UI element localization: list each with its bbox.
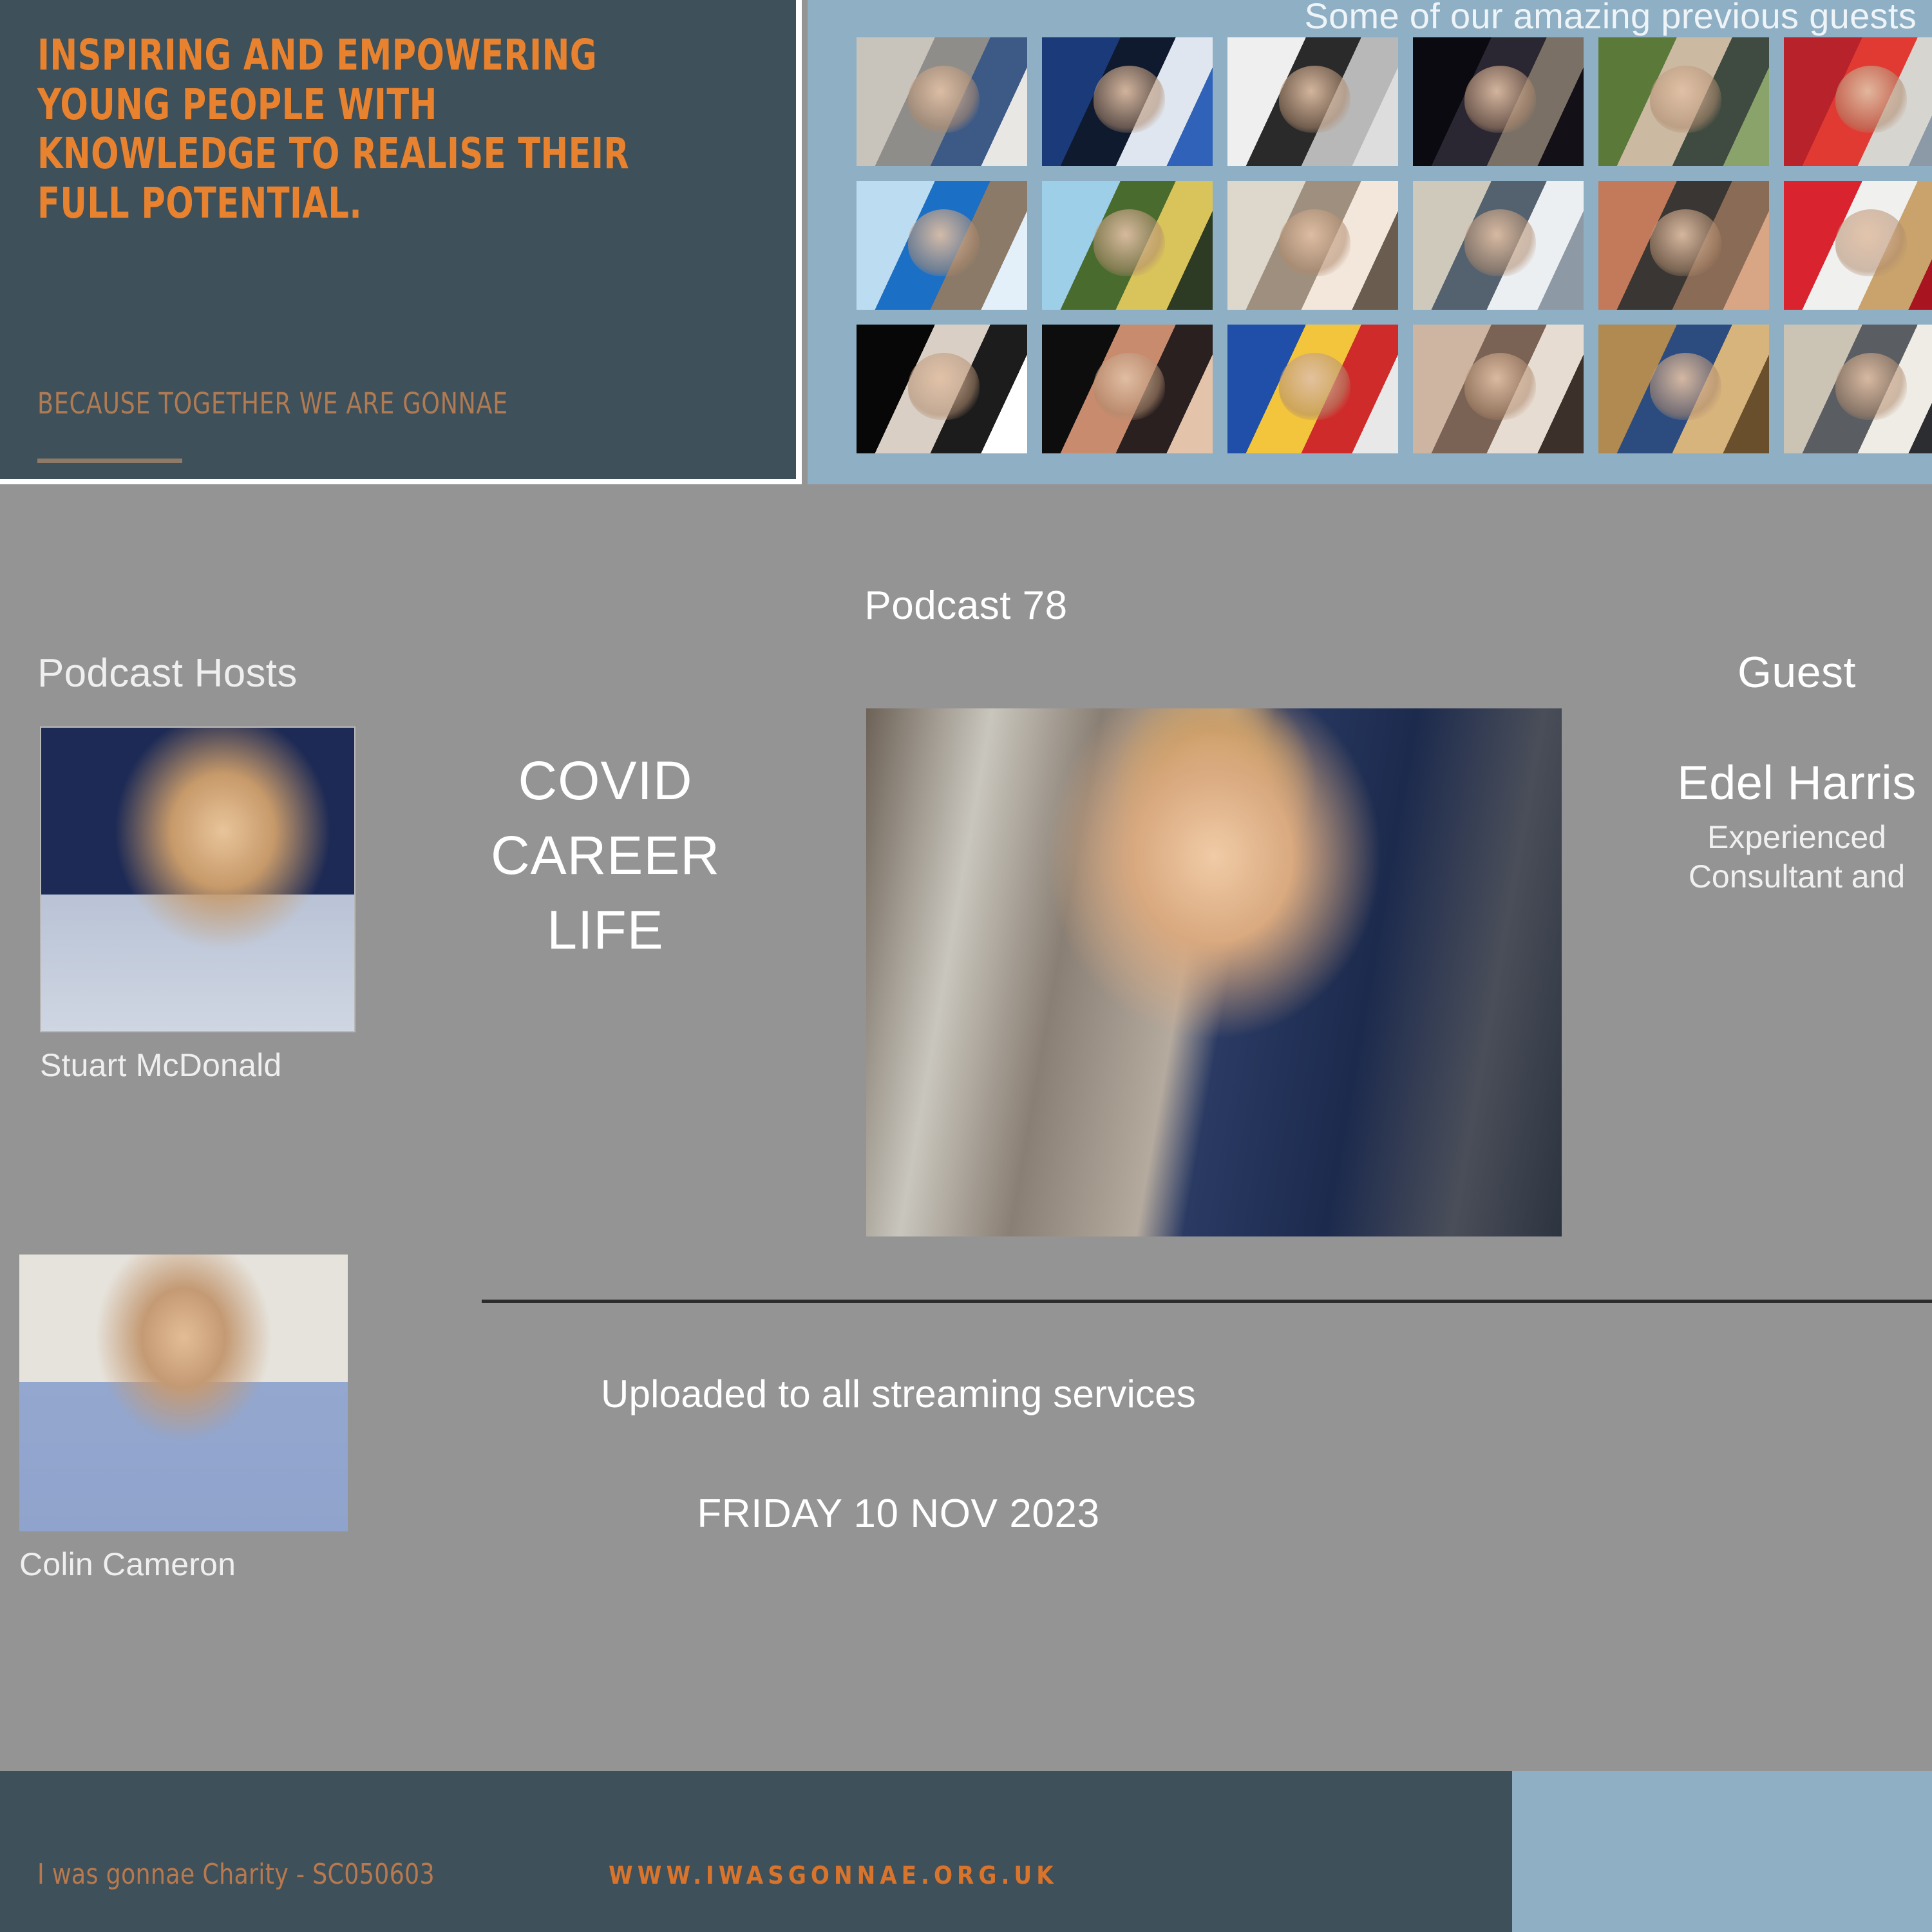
release-date: FRIDAY 10 NOV 2023: [0, 1491, 1797, 1537]
guest-thumbnail: [1042, 37, 1213, 166]
guest-thumbnail: [1227, 181, 1398, 310]
footer-left-block: [0, 1771, 1512, 1932]
show-title: COVID CAREER LIFE: [444, 744, 766, 968]
footer-right-block: [1512, 1771, 1932, 1932]
podcast-number: Podcast 78: [0, 583, 1932, 629]
previous-guests-title: Some of our amazing previous guests: [1304, 0, 1917, 37]
guest-thumbnail: [857, 37, 1027, 166]
show-title-line: CAREER: [444, 819, 766, 893]
top-band: Inspiring and empowering young people wi…: [0, 0, 1932, 489]
host-card: Stuart McDonald: [40, 726, 355, 1084]
guest-thumbnail: [1413, 181, 1584, 310]
guest-info-column: Guest Edel Harris Experienced Consultant…: [1533, 647, 1932, 896]
footer-bar: I was gonnae Charity - SC050603 www.iwas…: [0, 1771, 1932, 1932]
guest-role-line: Experienced: [1707, 819, 1886, 855]
mission-tagline: Because together we are gonnae: [37, 386, 687, 421]
section-divider: [482, 1300, 1932, 1303]
show-title-line: COVID: [444, 744, 766, 819]
guest-thumbnail: [1598, 37, 1769, 166]
guest-thumbnail: [1042, 325, 1213, 453]
mission-headline: Inspiring and empowering young people wi…: [37, 31, 674, 228]
guest-thumbnail: [1598, 325, 1769, 453]
guest-thumbnail: [1413, 37, 1584, 166]
guest-photo: [866, 708, 1562, 1236]
guest-role-line: Consultant and: [1689, 858, 1905, 895]
podcast-announcement-slide: Inspiring and empowering young people wi…: [0, 0, 1932, 1932]
host-name: Stuart McDonald: [40, 1046, 355, 1084]
footer-charity-number: I was gonnae Charity - SC050603: [37, 1858, 435, 1891]
upload-note: Uploaded to all streaming services: [0, 1372, 1797, 1416]
guest-thumbnail: [1413, 325, 1584, 453]
host-photo-stuart-mcdonald: [40, 726, 355, 1032]
guest-heading: Guest: [1533, 647, 1932, 697]
guest-thumbnail: [1784, 37, 1932, 166]
guest-role: Experienced Consultant and: [1533, 818, 1932, 896]
guest-thumbnail: [857, 325, 1027, 453]
podcast-hosts-heading: Podcast Hosts: [37, 650, 298, 696]
guest-thumbnail: [1784, 325, 1932, 453]
guest-thumbnail: [1042, 181, 1213, 310]
guest-thumbnail: [1598, 181, 1769, 310]
main-content: Podcast 78 Podcast Hosts Stuart McDonald…: [0, 489, 1932, 1771]
show-title-line: LIFE: [444, 893, 766, 968]
guest-thumbnail: [1784, 181, 1932, 310]
guest-thumbnail: [1227, 37, 1398, 166]
host-name: Colin Cameron: [19, 1546, 348, 1583]
guest-name: Edel Harris: [1533, 755, 1932, 810]
guest-thumbnail: [1227, 325, 1398, 453]
mission-panel: Inspiring and empowering young people wi…: [0, 0, 802, 484]
previous-guests-mosaic: Some of our amazing previous guests: [808, 0, 1932, 484]
mission-rule-divider: [37, 459, 182, 463]
guest-thumbnail: [857, 181, 1027, 310]
footer-website-url[interactable]: www.iwasgonnae.org.uk: [609, 1861, 1058, 1889]
